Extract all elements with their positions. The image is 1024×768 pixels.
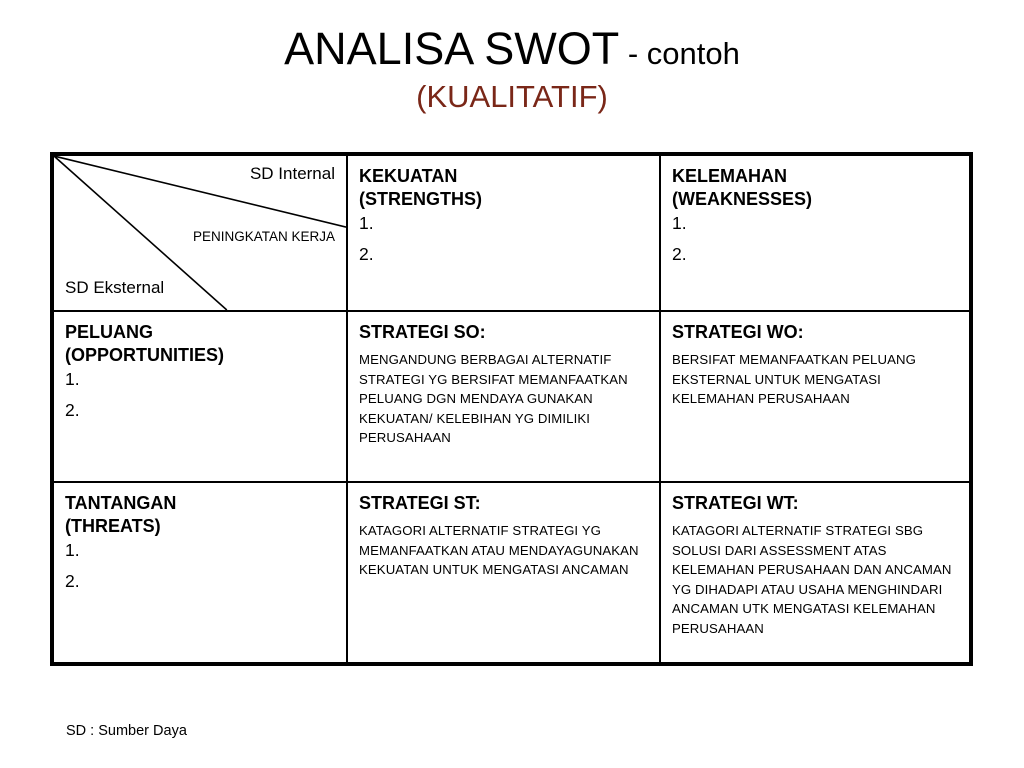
- page-title: ANALISA SWOT: [284, 23, 619, 74]
- swot-matrix: SD Internal PENINGKATAN KERJA SD Ekstern…: [50, 152, 973, 666]
- list-item: 1.: [65, 542, 335, 560]
- header-weaknesses: KELEMAHAN (WEAKNESSES) 1. 2.: [661, 156, 969, 312]
- strategi-wt-title: STRATEGI WT:: [672, 492, 958, 515]
- list-item: 2.: [65, 402, 335, 420]
- list-item: 2.: [672, 246, 958, 264]
- axis-label-peningkatan-kerja: PENINGKATAN KERJA: [193, 229, 335, 244]
- page-title-suffix: - contoh: [619, 36, 740, 71]
- list-item: 2.: [65, 573, 335, 591]
- cell-strategi-st: STRATEGI ST: KATAGORI ALTERNATIF STRATEG…: [348, 483, 661, 662]
- header-opportunities-title: PELUANG (OPPORTUNITIES): [65, 321, 335, 367]
- header-opportunities-list: 1. 2.: [65, 371, 335, 419]
- header-weaknesses-title: KELEMAHAN (WEAKNESSES): [672, 165, 958, 211]
- header-weaknesses-list: 1. 2.: [672, 215, 958, 263]
- axis-label-sd-eksternal: SD Eksternal: [65, 278, 164, 298]
- header-strengths: KEKUATAN (STRENGTHS) 1. 2.: [348, 156, 661, 312]
- strategi-so-title: STRATEGI SO:: [359, 321, 648, 344]
- matrix-corner-cell: SD Internal PENINGKATAN KERJA SD Ekstern…: [54, 156, 348, 312]
- list-item: 2.: [359, 246, 648, 264]
- strategi-wo-title: STRATEGI WO:: [672, 321, 958, 344]
- header-threats-title: TANTANGAN (THREATS): [65, 492, 335, 538]
- header-threats: TANTANGAN (THREATS) 1. 2.: [54, 483, 348, 662]
- header-strengths-list: 1. 2.: [359, 215, 648, 263]
- strategi-so-body: MENGANDUNG BERBAGAI ALTERNATIF STRATEGI …: [359, 350, 648, 448]
- page-subtitle: (KUALITATIF): [0, 81, 1024, 112]
- header-opportunities: PELUANG (OPPORTUNITIES) 1. 2.: [54, 312, 348, 483]
- strategi-wt-body: KATAGORI ALTERNATIF STRATEGI SBG SOLUSI …: [672, 521, 958, 638]
- strategi-wo-body: BERSIFAT MEMANFAATKAN PELUANG EKSTERNAL …: [672, 350, 958, 409]
- list-item: 1.: [65, 371, 335, 389]
- strategi-st-body: KATAGORI ALTERNATIF STRATEGI YG MEMANFAA…: [359, 521, 648, 580]
- header-strengths-title: KEKUATAN (STRENGTHS): [359, 165, 648, 211]
- cell-strategi-so: STRATEGI SO: MENGANDUNG BERBAGAI ALTERNA…: [348, 312, 661, 483]
- header-threats-list: 1. 2.: [65, 542, 335, 590]
- cell-strategi-wt: STRATEGI WT: KATAGORI ALTERNATIF STRATEG…: [661, 483, 969, 662]
- footnote-legend: SD : Sumber Daya: [66, 723, 187, 739]
- list-item: 1.: [359, 215, 648, 233]
- slide-title-block: ANALISA SWOT - contoh (KUALITATIF): [0, 26, 1024, 112]
- axis-label-sd-internal: SD Internal: [250, 164, 335, 184]
- strategi-st-title: STRATEGI ST:: [359, 492, 648, 515]
- list-item: 1.: [672, 215, 958, 233]
- cell-strategi-wo: STRATEGI WO: BERSIFAT MEMANFAATKAN PELUA…: [661, 312, 969, 483]
